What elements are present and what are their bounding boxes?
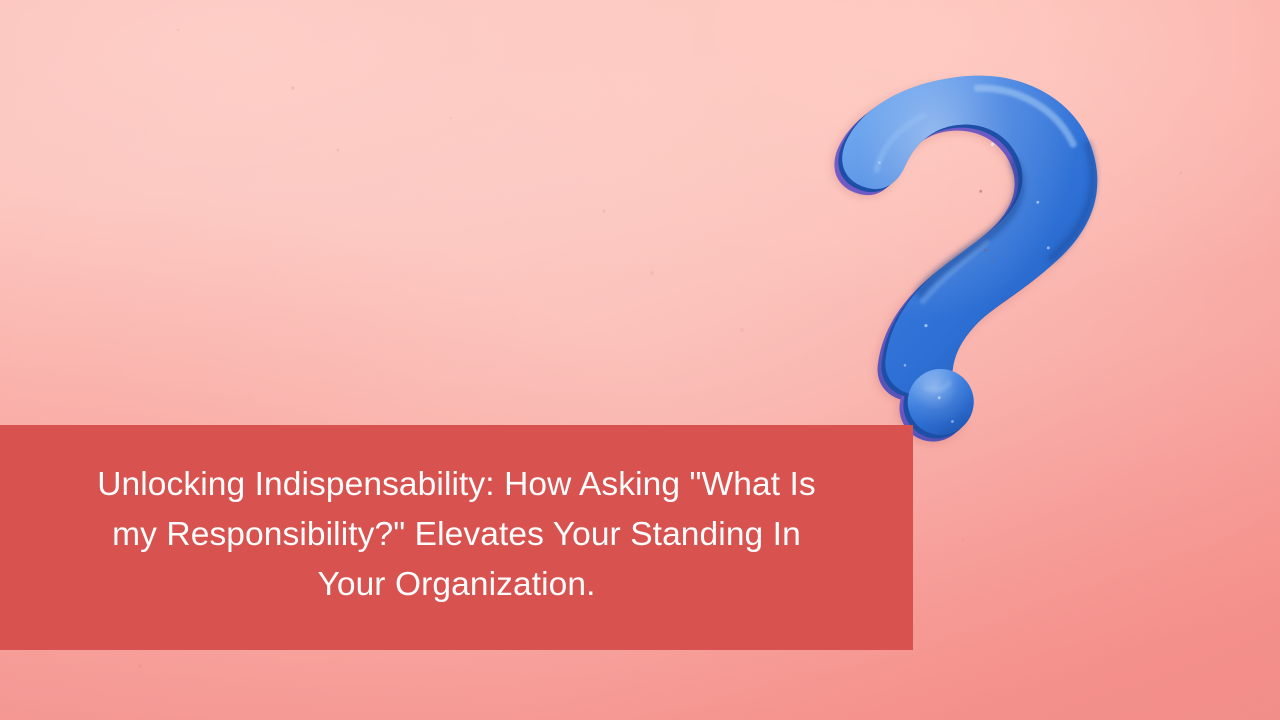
title-banner: Unlocking Indispensability: How Asking "…	[0, 425, 913, 650]
hero-image-canvas: Unlocking Indispensability: How Asking "…	[0, 0, 1280, 720]
page-title: Unlocking Indispensability: How Asking "…	[97, 460, 816, 610]
question-mark-gloss-hook	[814, 62, 1109, 414]
question-mark-icon	[806, 62, 1126, 462]
